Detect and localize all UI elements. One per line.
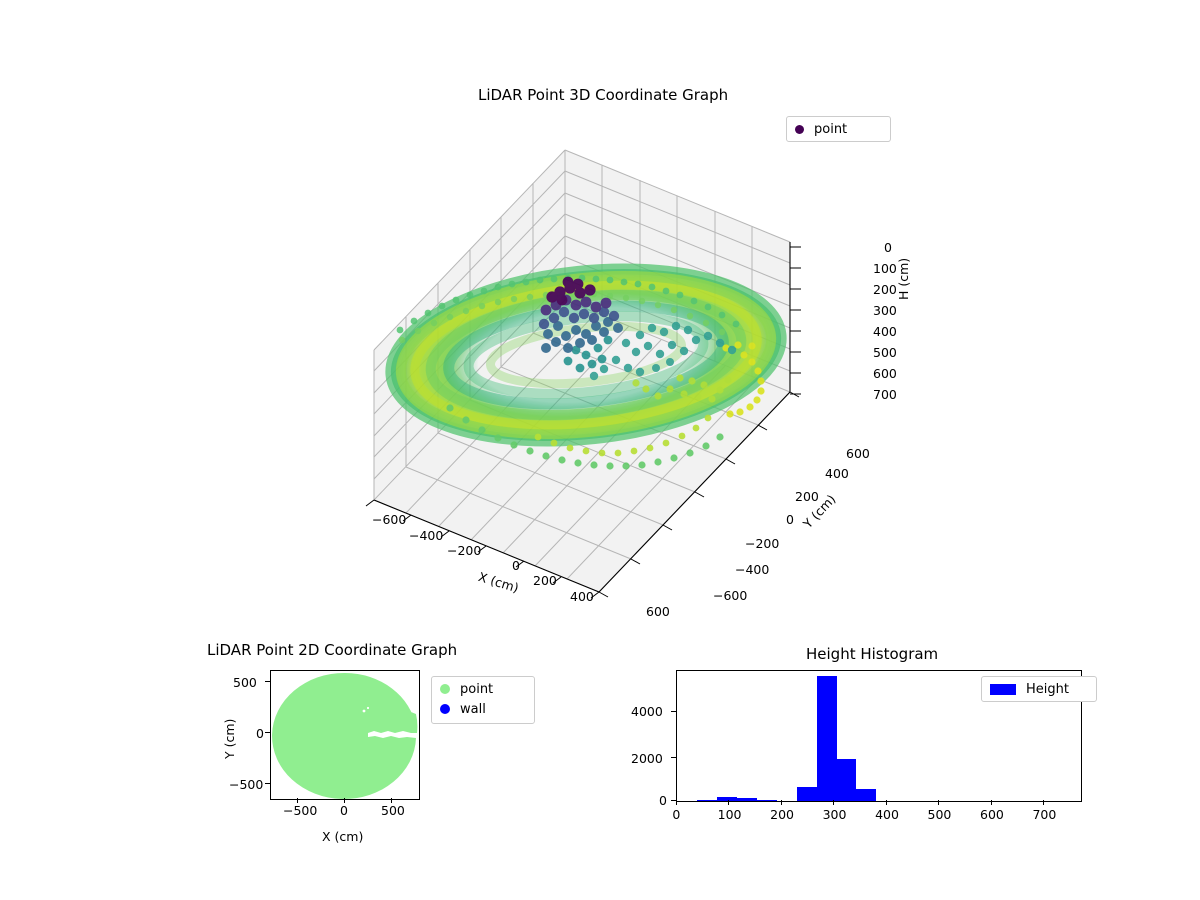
plot3d-ytick-5: 400 xyxy=(825,466,849,481)
histogram-bar xyxy=(757,800,777,801)
plot2d-axes[interactable] xyxy=(270,670,420,800)
plot2d-xtickmark-0 xyxy=(297,798,298,803)
plot3d-xtick-6: 600 xyxy=(646,604,670,619)
histogram-xtickmark-6 xyxy=(991,800,992,805)
plot3d-ztick-4: 400 xyxy=(873,324,897,339)
histogram-ytick-2: 4000 xyxy=(631,704,663,719)
plot2d-title: LiDAR Point 2D Coordinate Graph xyxy=(207,641,457,659)
plot2d-ylabel: Y (cm) xyxy=(222,719,237,759)
histogram-title: Height Histogram xyxy=(806,645,938,663)
histogram-xtick-2: 200 xyxy=(770,807,794,822)
histogram-bar xyxy=(856,789,876,801)
plot2d-ytickmark-2 xyxy=(265,783,270,784)
plot3d-ytick-3: 0 xyxy=(786,512,794,527)
plot3d-ztick-3: 300 xyxy=(873,303,897,318)
plot3d-ztick-5: 500 xyxy=(873,345,897,360)
histogram-xtickmark-3 xyxy=(833,800,834,805)
histogram-bar xyxy=(737,798,757,801)
legend-label-point: point xyxy=(460,682,493,697)
plot3d-ztick-6: 600 xyxy=(873,366,897,381)
legend-item-wall-2d[interactable]: wall xyxy=(440,699,526,719)
plot3d-ztick-7: 700 xyxy=(873,387,897,402)
point-disc xyxy=(272,673,417,799)
point-marker-icon xyxy=(795,125,804,134)
histogram-xtickmark-5 xyxy=(938,800,939,805)
histogram-bar xyxy=(837,759,857,801)
plot2d-xlabel: X (cm) xyxy=(322,829,363,844)
histogram-xtick-4: 400 xyxy=(875,807,899,822)
plot2d-xtickmark-2 xyxy=(391,798,392,803)
point-marker-icon xyxy=(440,684,450,694)
plot3d-xtick-2: −200 xyxy=(447,543,481,558)
plot3d-ytick-2: −200 xyxy=(745,536,779,551)
plot2d-legend[interactable]: point wall xyxy=(431,676,535,724)
histogram-bar xyxy=(697,800,717,801)
histogram-xtick-0: 0 xyxy=(672,807,680,822)
histogram-xtick-3: 300 xyxy=(823,807,847,822)
plot2d-xtickmark-1 xyxy=(344,798,345,803)
histogram-xtick-1: 100 xyxy=(718,807,742,822)
plot3d-ztick-2: 200 xyxy=(873,282,897,297)
histogram-xtickmark-4 xyxy=(886,800,887,805)
histogram-xtickmark-1 xyxy=(728,800,729,805)
plot2d-xtick-1: 0 xyxy=(340,803,348,818)
plot3d-ztick-1: 100 xyxy=(873,261,897,276)
plot2d-ytick-2: −500 xyxy=(229,777,263,792)
plot3d-ytick-0: −600 xyxy=(713,588,747,603)
histogram-xtickmark-7 xyxy=(1043,800,1044,805)
plot3d-legend[interactable]: point xyxy=(786,116,891,142)
legend-item-point-2d[interactable]: point xyxy=(440,679,526,699)
plot2d-canvas xyxy=(271,671,419,799)
legend-label-height: Height xyxy=(1026,682,1069,697)
plot2d-ytick-1: 0 xyxy=(256,726,264,741)
histogram-bar xyxy=(817,676,837,801)
plot3d-xtick-1: −400 xyxy=(409,528,443,543)
height-swatch-icon xyxy=(990,684,1016,695)
plot3d-ytick-1: −400 xyxy=(735,562,769,577)
legend-item-point[interactable]: point xyxy=(795,117,882,141)
plot3d-zlabel: H (cm) xyxy=(896,258,911,300)
histogram-ytick-1: 2000 xyxy=(631,751,663,766)
plot2d-ytickmark-0 xyxy=(265,681,270,682)
histogram-legend[interactable]: Height xyxy=(981,676,1097,702)
plot2d-xtick-0: −500 xyxy=(283,803,317,818)
histogram-xtick-7: 700 xyxy=(1032,807,1056,822)
plot3d-ytick-4: 200 xyxy=(795,489,819,504)
legend-label-point: point xyxy=(814,122,847,137)
figure-canvas: LiDAR Point 3D Coordinate Graph point xyxy=(0,0,1200,900)
plot2d-ytick-0: 500 xyxy=(233,675,257,690)
legend-item-height[interactable]: Height xyxy=(990,677,1088,701)
histogram-ytickmark-2 xyxy=(671,711,676,712)
plot3d-xtick-5: 400 xyxy=(570,589,594,604)
plot2d-xtick-2: 500 xyxy=(381,803,405,818)
plot3d-title: LiDAR Point 3D Coordinate Graph xyxy=(478,86,728,104)
histogram-ytick-0: 0 xyxy=(659,793,667,808)
wall-marker-icon xyxy=(440,704,450,714)
histogram-ytickmark-1 xyxy=(671,757,676,758)
histogram-xtickmark-2 xyxy=(781,800,782,805)
plot3d-xtick-3: 0 xyxy=(512,558,520,573)
legend-label-wall: wall xyxy=(460,702,486,717)
plot3d-canvas xyxy=(340,140,920,630)
histogram-bar xyxy=(797,787,817,801)
plot3d-xtick-0: −600 xyxy=(372,512,406,527)
plot3d-ztick-0: 0 xyxy=(884,240,892,255)
histogram-xtick-6: 600 xyxy=(980,807,1004,822)
histogram-xtick-5: 500 xyxy=(928,807,952,822)
plot3d-ytick-6: 600 xyxy=(846,446,870,461)
histogram-xtickmark-0 xyxy=(676,800,677,805)
plot3d-axes[interactable] xyxy=(340,140,920,630)
plot3d-xtick-4: 200 xyxy=(533,573,557,588)
histogram-bar xyxy=(717,797,737,801)
plot2d-ytickmark-1 xyxy=(265,732,270,733)
